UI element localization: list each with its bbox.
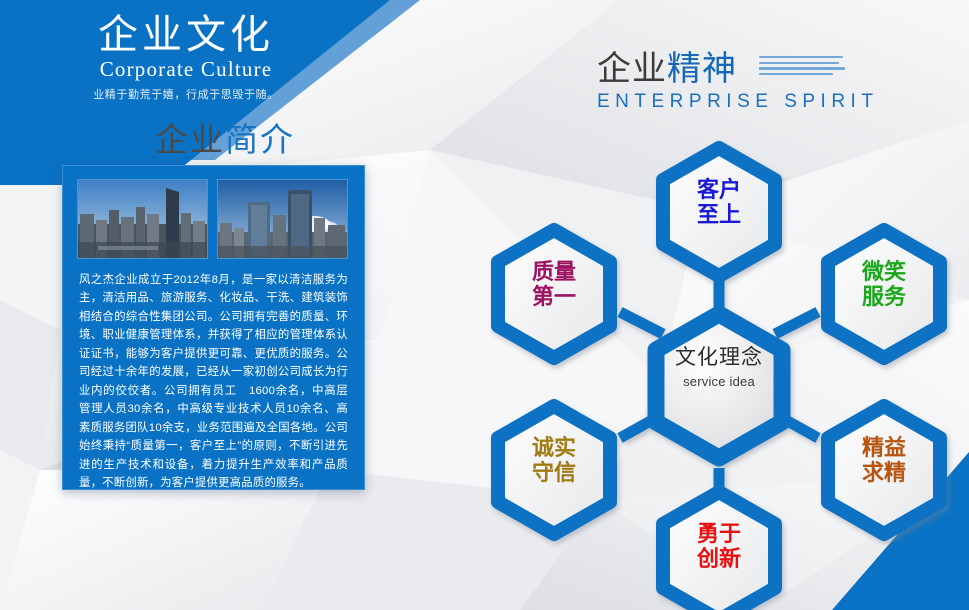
decorative-text-lines	[759, 56, 845, 82]
intro-heading-dark: 企业	[155, 121, 225, 158]
culture-hex-diagram: 文化理念 service idea 客户 至上 微笑 服务 精益 求精 勇于 创…	[470, 118, 969, 610]
poster-canvas: 企业文化 Corporate Culture 业精于勤荒于嬉，行成于思毁于随。 …	[0, 0, 969, 610]
hex-innovation	[663, 492, 775, 610]
intro-heading-blue: 简介	[225, 121, 295, 158]
hex-customer-first	[663, 148, 775, 276]
spirit-title-dark: 企业	[597, 50, 667, 88]
hex-center-label-en: service idea	[649, 374, 789, 389]
hex-smile-service	[828, 230, 940, 358]
spirit-title-en: ENTERPRISE SPIRIT	[597, 91, 878, 113]
hex-integrity	[498, 406, 610, 534]
intro-body-text: 风之杰企业成立于2012年8月，是一家以清洁服务为主，清洁用品、旅游服务、化妆品…	[63, 259, 364, 493]
intro-photo-row	[63, 166, 364, 259]
hex-quality-first	[498, 230, 610, 358]
hex-center-label-cn: 文化理念	[649, 341, 789, 371]
hex-excellence	[828, 406, 940, 534]
city-photo-2	[217, 179, 348, 259]
intro-heading: 企业简介	[155, 113, 295, 161]
city-photo-1	[77, 179, 208, 259]
spirit-heading-block: 企业精神 ENTERPRISE SPIRIT	[597, 52, 878, 113]
spirit-title-blue: 精神	[667, 50, 737, 88]
intro-card: 风之杰企业成立于2012年8月，是一家以清洁服务为主，清洁用品、旅游服务、化妆品…	[62, 165, 365, 490]
